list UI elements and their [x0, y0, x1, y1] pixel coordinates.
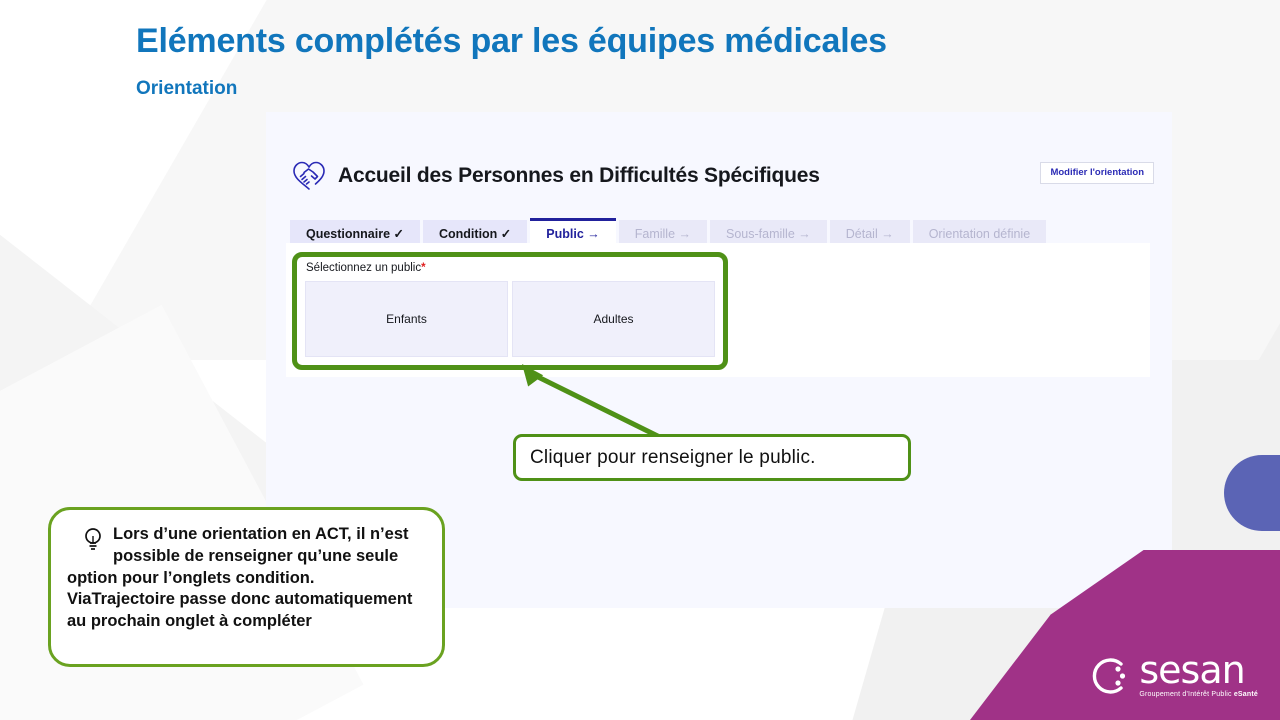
- public-selector-group: Sélectionnez un public* Enfants Adultes: [292, 252, 728, 370]
- sesan-wordmark: sesan Groupement d'Intérêt Public eSanté: [1139, 651, 1258, 698]
- app-header: Accueil des Personnes en Difficultés Spé…: [290, 150, 1158, 202]
- bg-shape-blue-blob: [1224, 455, 1280, 531]
- lightbulb-icon: [81, 526, 105, 554]
- sesan-mark-icon: [1091, 655, 1133, 697]
- modify-orientation-button[interactable]: Modifier l'orientation: [1040, 162, 1154, 184]
- page-subtitle: Orientation: [136, 78, 237, 100]
- public-choice-list: Enfants Adultes: [305, 281, 715, 357]
- public-option-enfants[interactable]: Enfants: [305, 281, 508, 357]
- slide-canvas: Eléments complétés par les équipes médic…: [0, 0, 1280, 720]
- app-title: Accueil des Personnes en Difficultés Spé…: [338, 164, 820, 188]
- instruction-callout: Cliquer pour renseigner le public.: [513, 434, 911, 481]
- instruction-callout-text: Cliquer pour renseigner le public.: [516, 447, 816, 469]
- public-selector-label: Sélectionnez un public*: [306, 262, 426, 274]
- sesan-name: sesan: [1139, 651, 1258, 689]
- sesan-tagline: Groupement d'Intérêt Public eSanté: [1139, 691, 1258, 698]
- public-selector-label-text: Sélectionnez un public: [306, 262, 421, 274]
- sesan-tagline-bold: eSanté: [1234, 691, 1258, 698]
- tip-callout: Lors d’une orientation en ACT, il n’est …: [48, 507, 445, 667]
- tip-callout-text: Lors d’une orientation en ACT, il n’est …: [67, 524, 426, 633]
- handshake-heart-icon: [290, 157, 328, 195]
- required-asterisk: *: [421, 262, 425, 274]
- page-title: Eléments complétés par les équipes médic…: [136, 22, 887, 61]
- sesan-logo: sesan Groupement d'Intérêt Public eSanté: [1091, 651, 1258, 698]
- public-option-adultes[interactable]: Adultes: [512, 281, 715, 357]
- sesan-tagline-prefix: Groupement d'Intérêt Public: [1139, 691, 1233, 698]
